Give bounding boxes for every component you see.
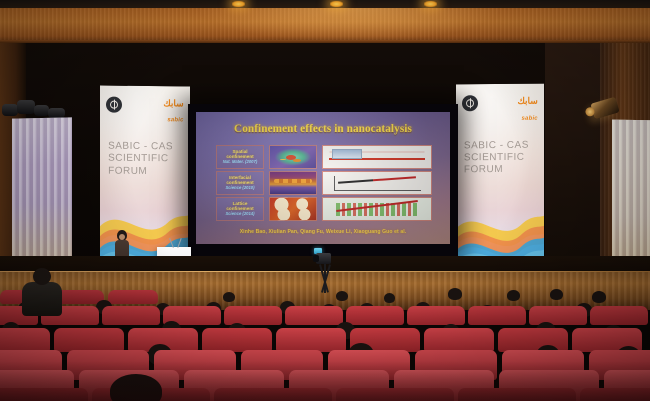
- auditorium-seat: [108, 290, 158, 304]
- slide-thumbnail-illustration: [269, 145, 317, 169]
- auditorium-seat: [54, 328, 124, 352]
- slide-thumbnail-illustration: [269, 171, 317, 195]
- auditorium-seat: [0, 328, 50, 352]
- banner-title-line2: SCIENTIFIC: [108, 153, 185, 166]
- auditorium-seat: [102, 306, 160, 325]
- auditorium-seat: [202, 328, 272, 352]
- banner-title-line1: SABIC - CAS: [464, 139, 539, 152]
- standing-attendee-head: [33, 268, 51, 285]
- stage-light-icon: [34, 105, 49, 116]
- sabic-latin-wordmark: sabic: [522, 115, 538, 121]
- slide-thumbnail-chart: [322, 197, 432, 221]
- banner-title: SABIC - CAS SCIENTIFIC FORUM: [464, 139, 539, 176]
- sabic-cas-banner-right: سابك sabic SABIC - CAS SCIENTIFIC FORUM: [456, 84, 544, 271]
- camera-lens-icon: [313, 255, 319, 262]
- ceiling-light-wash: [200, 6, 500, 42]
- stage-light-icon: [48, 108, 65, 118]
- sabic-latin-wordmark: sabic: [167, 117, 183, 123]
- ceiling-light-strip: [0, 0, 650, 8]
- standing-attendee: [22, 282, 62, 316]
- slide-row-reference: Science (2010): [225, 186, 254, 191]
- slide-content-grid: Spatial confinement Nat. Mater. (2007) I…: [216, 145, 432, 221]
- slide-row-label: Interfacial confinement Science (2010): [216, 171, 264, 195]
- slide-row-reference: Science (2014): [225, 212, 254, 217]
- slide-authors: Xinhe Bao, Xiulian Pan, Qiang Fu, Weixue…: [196, 229, 450, 235]
- audience-head: [384, 293, 395, 303]
- auditorium-scene: سابك sabic SABIC - CAS SCIENTIFIC FORUM …: [0, 0, 650, 401]
- projection-screen: Confinement effects in nanocatalysis Spa…: [196, 112, 450, 244]
- auditorium-seat: [407, 306, 465, 325]
- video-camera-on-tripod: [311, 247, 337, 293]
- audience-head: [550, 289, 563, 300]
- banner-title-line2: SCIENTIFIC: [464, 152, 539, 165]
- slide-title: Confinement effects in nanocatalysis: [196, 123, 450, 135]
- audience-head: [592, 291, 606, 303]
- auditorium-seat: [529, 306, 587, 325]
- banner-title: SABIC - CAS SCIENTIFIC FORUM: [108, 141, 185, 178]
- auditorium-seat: [468, 306, 526, 325]
- slide-thumbnail-chart: [322, 145, 432, 169]
- foreground-shadow: [0, 361, 650, 401]
- stage-light-icon: [17, 100, 35, 114]
- audience-head: [223, 292, 235, 302]
- slide-row-label: Spatial confinement Nat. Mater. (2007): [216, 145, 264, 169]
- auditorium-seat: [276, 328, 346, 352]
- banner-title-line1: SABIC - CAS: [108, 141, 185, 154]
- banner-title-line3: FORUM: [464, 164, 539, 177]
- audience-head: [336, 291, 348, 301]
- ceiling-light-icon: [232, 1, 245, 7]
- auditorium-seat: [224, 306, 282, 325]
- audience-head: [448, 288, 462, 300]
- auditorium-seat: [346, 306, 404, 325]
- sabic-arabic-wordmark: سابك: [163, 99, 183, 108]
- slide-row-label: Lattice confinement Science (2014): [216, 197, 264, 221]
- slide-thumbnail-chart: [322, 171, 432, 195]
- ceiling-light-icon: [330, 1, 343, 7]
- sabic-arabic-wordmark: سابك: [517, 97, 537, 106]
- auditorium-seat: [285, 306, 343, 325]
- auditorium-seat: [590, 306, 648, 325]
- audience-head: [507, 290, 520, 301]
- slide-row-reference: Nat. Mater. (2007): [223, 160, 257, 165]
- auditorium-seat: [424, 328, 494, 352]
- slide-thumbnail-illustration: [269, 197, 317, 221]
- banner-title-line3: FORUM: [108, 165, 185, 178]
- ceiling-light-icon: [424, 1, 437, 7]
- stage-backdrop-right: [545, 43, 607, 288]
- stage-light-icon: [2, 104, 18, 116]
